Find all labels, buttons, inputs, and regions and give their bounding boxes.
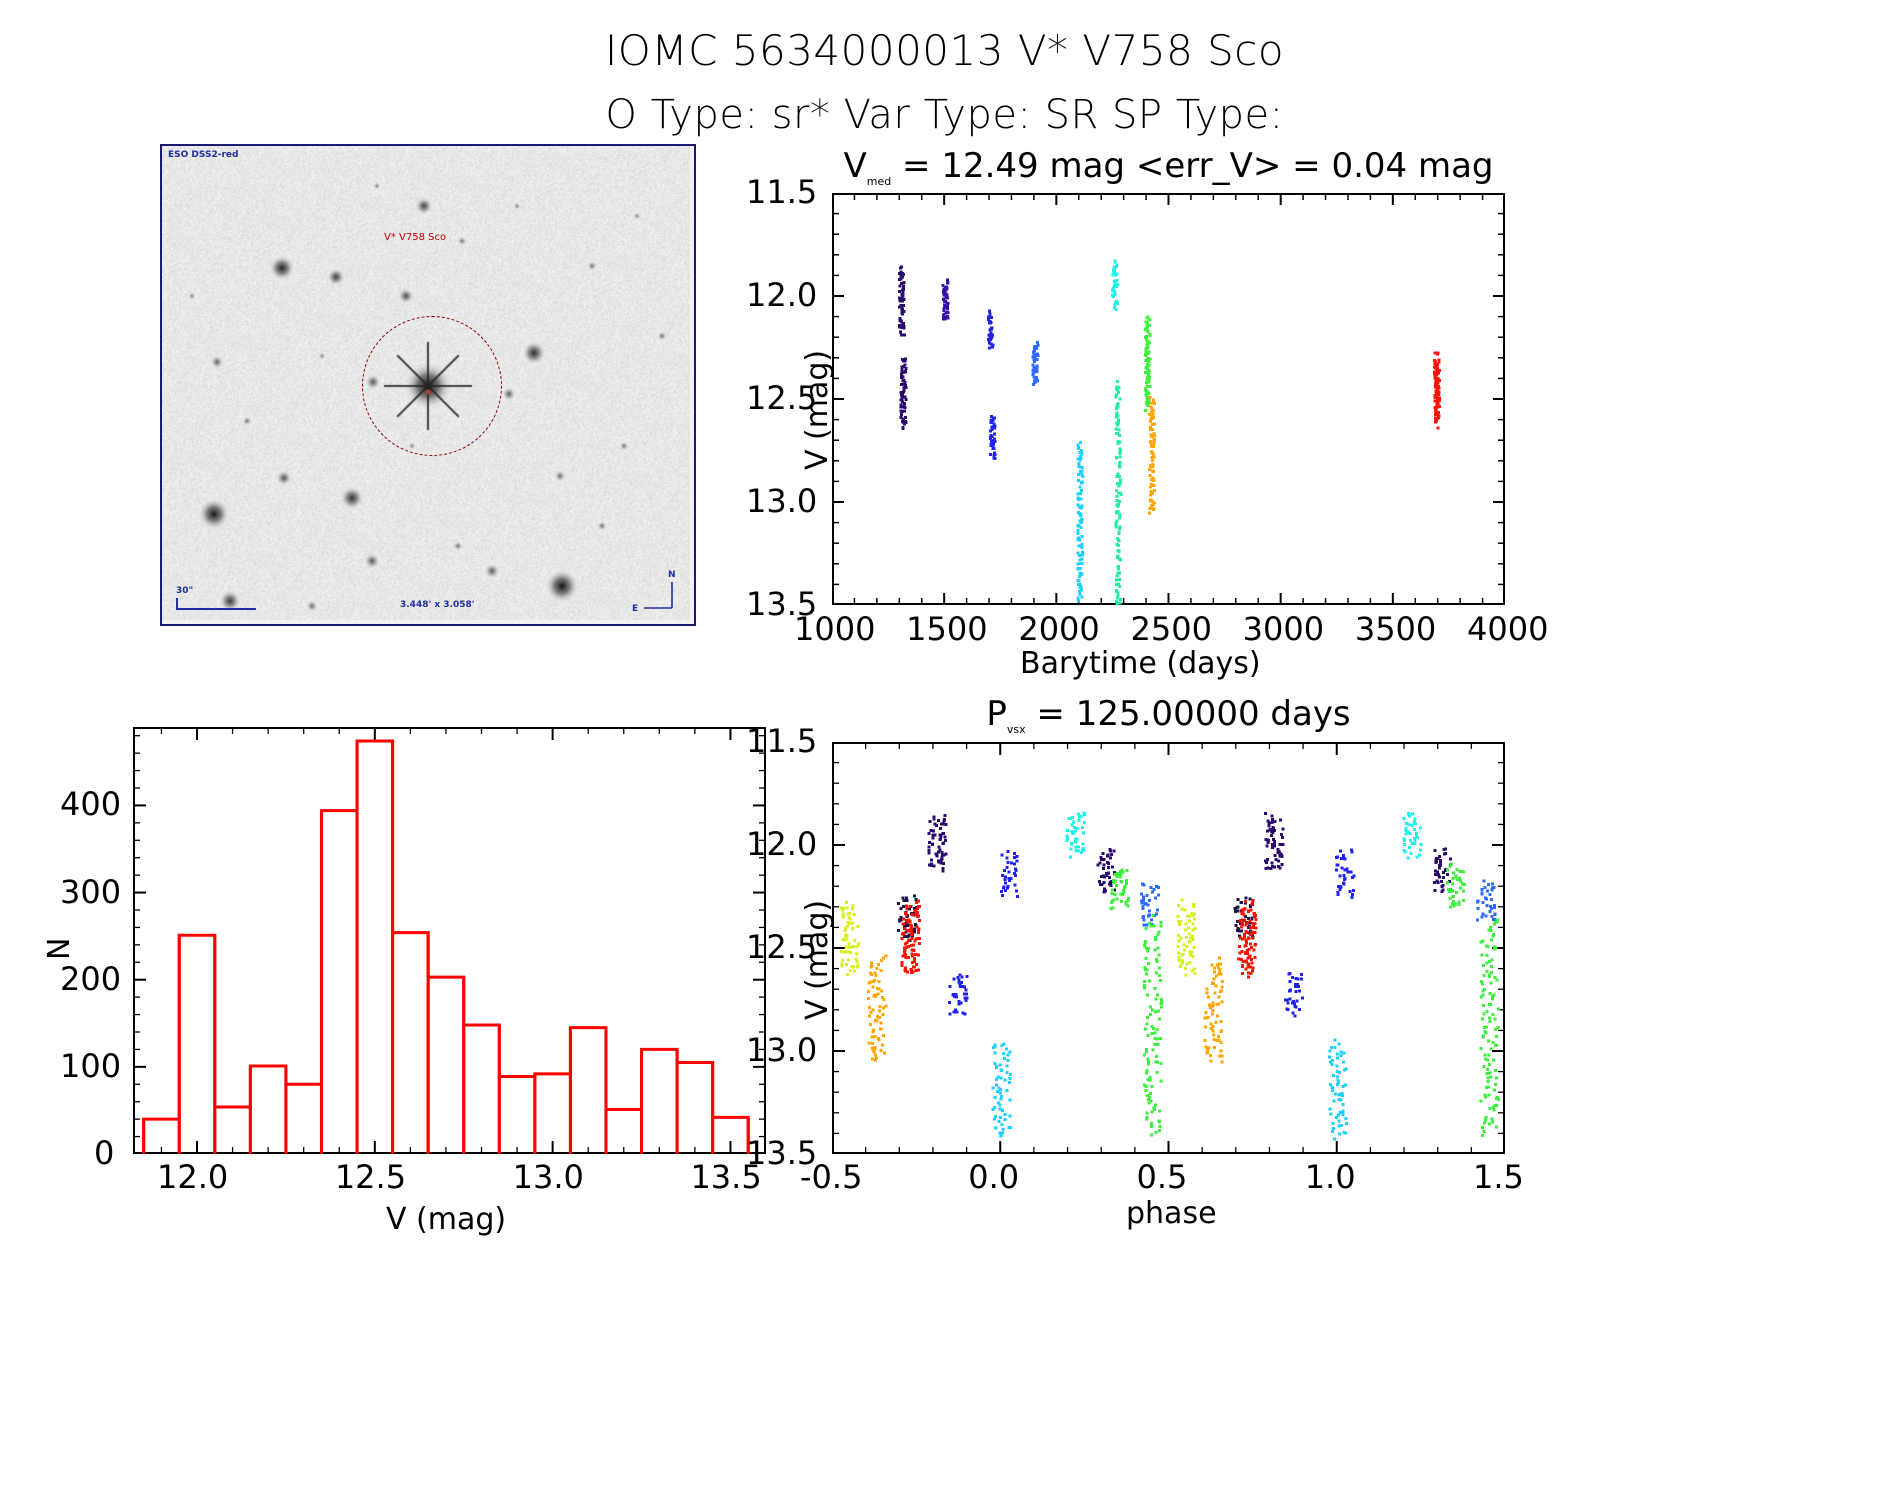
- histogram-xtick-12.0: 12.0: [157, 1158, 228, 1196]
- page-subtitle: O Type: sr* Var Type: SR SP Type:: [0, 92, 1889, 138]
- phase-ytick-11.5: 11.5: [746, 722, 817, 760]
- sky-image-panel: ESO DSS2-red V* V758 Sco 30" 3.448' x 3.…: [160, 144, 696, 626]
- lightcurve-ytick-13.0: 13.0: [746, 482, 817, 520]
- histogram-ytick-200: 200: [60, 960, 121, 998]
- survey-label: ESO DSS2-red: [168, 150, 238, 160]
- target-aperture-circle: [362, 316, 502, 456]
- phase-xtick--0.5: -0.5: [800, 1158, 862, 1196]
- scale-bar: [176, 598, 256, 610]
- lightcurve-title: Vmed = 12.49 mag <err_V> = 0.04 mag: [832, 146, 1505, 188]
- histogram-ytick-300: 300: [60, 873, 121, 911]
- phase-title-prefix: P: [986, 694, 1007, 734]
- histogram-plot[interactable]: [133, 727, 766, 1154]
- lightcurve-title-prefix: V: [844, 146, 867, 186]
- lightcurve-plot[interactable]: [832, 193, 1505, 605]
- phase-xtick-1.5: 1.5: [1473, 1158, 1524, 1196]
- lightcurve-title-sub: med: [867, 175, 891, 188]
- histogram-xtick-13.0: 13.0: [513, 1158, 584, 1196]
- compass-rose-icon: [632, 574, 686, 620]
- page-title: IOMC 5634000013 V* V758 Sco: [0, 26, 1889, 75]
- lightcurve-xtick-1500: 1500: [906, 610, 987, 648]
- histogram-xaxis-label: V (mag): [386, 1202, 506, 1237]
- histogram-ytick-100: 100: [60, 1047, 121, 1085]
- lightcurve-ytick-11.5: 11.5: [746, 173, 817, 211]
- phase-ytick-12.0: 12.0: [746, 825, 817, 863]
- phase-xaxis-label: phase: [1126, 1196, 1217, 1231]
- phase-xtick-1.0: 1.0: [1305, 1158, 1356, 1196]
- phase-title-sub: vsx: [1007, 723, 1026, 736]
- histogram-ytick-0: 0: [94, 1134, 114, 1172]
- phase-title-rest: = 125.00000 days: [1026, 694, 1351, 734]
- histogram-ytick-400: 400: [60, 785, 121, 823]
- histogram-xtick-12.5: 12.5: [335, 1158, 406, 1196]
- lightcurve-yaxis-label: V (mag): [800, 350, 835, 470]
- lightcurve-title-rest: = 12.49 mag <err_V> = 0.04 mag: [891, 146, 1493, 186]
- lightcurve-ytick-12.0: 12.0: [746, 276, 817, 314]
- lightcurve-xtick-3500: 3500: [1355, 610, 1436, 648]
- phase-xtick-0.5: 0.5: [1137, 1158, 1188, 1196]
- field-size-label: 3.448' x 3.058': [400, 600, 475, 610]
- phase-plot[interactable]: [832, 742, 1505, 1154]
- lightcurve-xtick-1000: 1000: [794, 610, 875, 648]
- phase-xtick-0.0: 0.0: [968, 1158, 1019, 1196]
- lightcurve-xtick-3000: 3000: [1243, 610, 1324, 648]
- lightcurve-xaxis-label: Barytime (days): [1020, 646, 1261, 681]
- histogram-yaxis-label: N: [42, 938, 77, 960]
- phase-title: Pvsx = 125.00000 days: [832, 694, 1505, 736]
- lightcurve-xtick-2000: 2000: [1018, 610, 1099, 648]
- lightcurve-xtick-4000: 4000: [1467, 610, 1548, 648]
- compass-north-label: N: [668, 570, 676, 580]
- phase-ytick-13.0: 13.0: [746, 1031, 817, 1069]
- lightcurve-xtick-2500: 2500: [1131, 610, 1212, 648]
- scale-bar-label: 30": [176, 586, 193, 596]
- phase-yaxis-label: V (mag): [800, 900, 835, 1020]
- compass-east-label: E: [632, 604, 638, 614]
- star-annotation-label: V* V758 Sco: [384, 232, 446, 243]
